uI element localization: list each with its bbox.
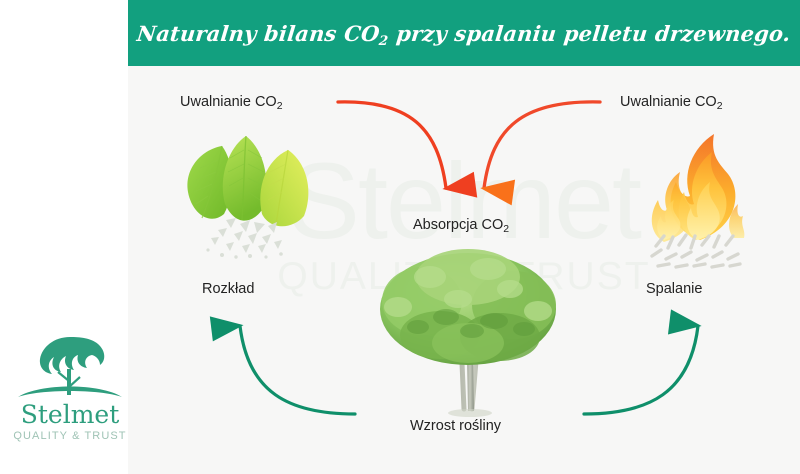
logo-tagline: QUALITY & TRUST [10,430,130,442]
label-growth: Wzrost rośliny [410,418,501,434]
arrow-release-left-to-absorption [338,102,446,188]
stelmet-tree-icon [14,325,126,403]
label-release-right-subscript: 2 [717,101,723,112]
label-release-left-subscript: 2 [277,101,283,112]
arrow-growth-to-combustion [584,326,698,414]
logo-wordmark: Stelmet [10,401,130,429]
brand-logo: Stelmet QUALITY & TRUST [10,325,130,442]
label-decay: Rozkład [202,281,254,297]
label-absorption-text: Absorpcja CO [413,217,503,233]
label-release-left-text: Uwalnianie CO [180,94,277,110]
infographic-canvas: Naturalny bilans CO2 przy spalaniu pelle… [0,0,800,474]
arrow-growth-to-decay [240,326,355,414]
label-release-left: Uwalnianie CO2 [180,94,283,110]
label-combustion: Spalanie [646,281,702,297]
label-absorption: Absorpcja CO2 [413,217,509,233]
label-release-right-text: Uwalnianie CO [620,94,717,110]
label-absorption-subscript: 2 [503,224,509,235]
arrow-release-right-to-absorption [484,102,600,188]
label-release-right: Uwalnianie CO2 [620,94,723,110]
